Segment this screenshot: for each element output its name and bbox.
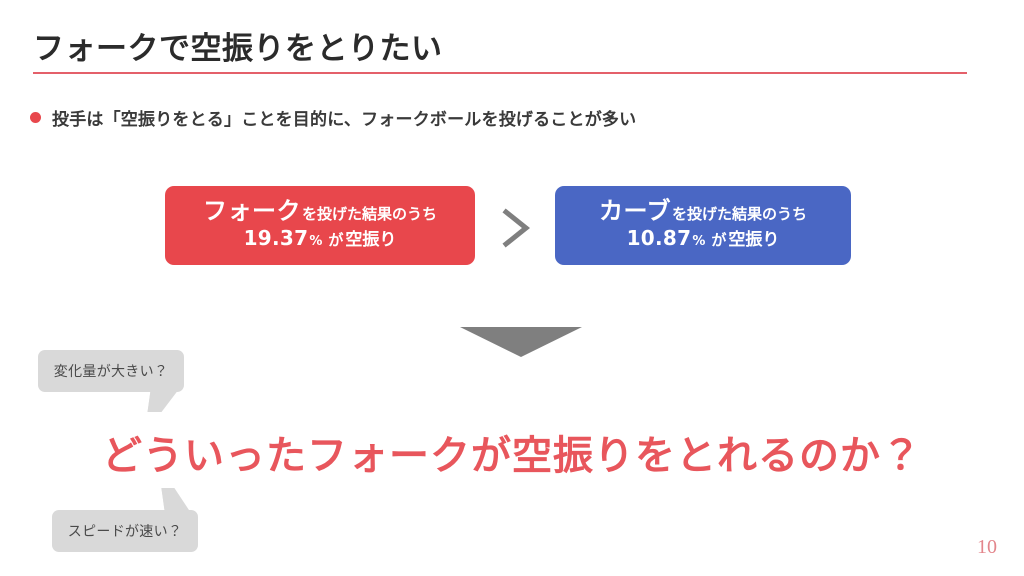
- speech-bubble-movement-tail-icon: [148, 391, 178, 412]
- bullet-row: 投手は「空振りをとる」ことを目的に、フォークボールを投げることが多い: [30, 105, 636, 130]
- slide-canvas: フォークで空振りをとりたい 投手は「空振りをとる」ことを目的に、フォークボールを…: [0, 0, 1024, 576]
- stat-box-curve-unit: %: [692, 235, 705, 249]
- stat-box-curve-pitch-name: カーブ: [599, 199, 671, 224]
- stat-box-curve: カーブ を投げた結果のうち 10.87 % が 空振り: [555, 186, 851, 265]
- speech-bubble-speed-tail-icon: [161, 488, 189, 511]
- speech-bubble-speed-text: スピードが速い？: [68, 521, 182, 541]
- speech-bubble-movement-text: 変化量が大きい？: [54, 361, 168, 381]
- headline-question: どういったフォークが空振りをとれるのか？: [0, 423, 1024, 481]
- stat-box-curve-emphasis: 空振り: [728, 232, 779, 250]
- page-title: フォークで空振りをとりたい: [33, 23, 443, 68]
- stat-box-fork: フォーク を投げた結果のうち 19.37 % が 空振り: [165, 186, 475, 265]
- stat-box-fork-line2: 19.37 % が 空振り: [244, 228, 397, 250]
- stat-box-curve-value: 10.87: [627, 228, 692, 249]
- stat-box-curve-line2: 10.87 % が 空振り: [627, 228, 780, 250]
- stat-box-fork-pitch-suffix: を投げた結果のうち: [302, 207, 437, 223]
- down-triangle-icon: [460, 327, 582, 357]
- stat-box-curve-tail: が: [711, 233, 726, 249]
- stat-box-fork-value: 19.37: [244, 228, 309, 249]
- stat-box-fork-tail: が: [328, 233, 343, 249]
- title-underline-divider: [33, 72, 967, 74]
- bullet-text: 投手は「空振りをとる」ことを目的に、フォークボールを投げることが多い: [52, 105, 636, 130]
- stat-box-fork-emphasis: 空振り: [345, 232, 396, 250]
- page-number: 10: [977, 536, 997, 559]
- stat-box-curve-line1: カーブ を投げた結果のうち: [599, 199, 807, 224]
- speech-bubble-speed: スピードが速い？: [52, 510, 198, 552]
- stat-box-fork-unit: %: [309, 235, 322, 249]
- stat-box-fork-pitch-name: フォーク: [203, 199, 301, 224]
- speech-bubble-movement: 変化量が大きい？: [38, 350, 184, 392]
- stat-box-curve-pitch-suffix: を投げた結果のうち: [672, 207, 807, 223]
- greater-than-icon: [497, 207, 535, 249]
- stat-box-fork-line1: フォーク を投げた結果のうち: [203, 199, 437, 224]
- bullet-dot-icon: [30, 112, 41, 123]
